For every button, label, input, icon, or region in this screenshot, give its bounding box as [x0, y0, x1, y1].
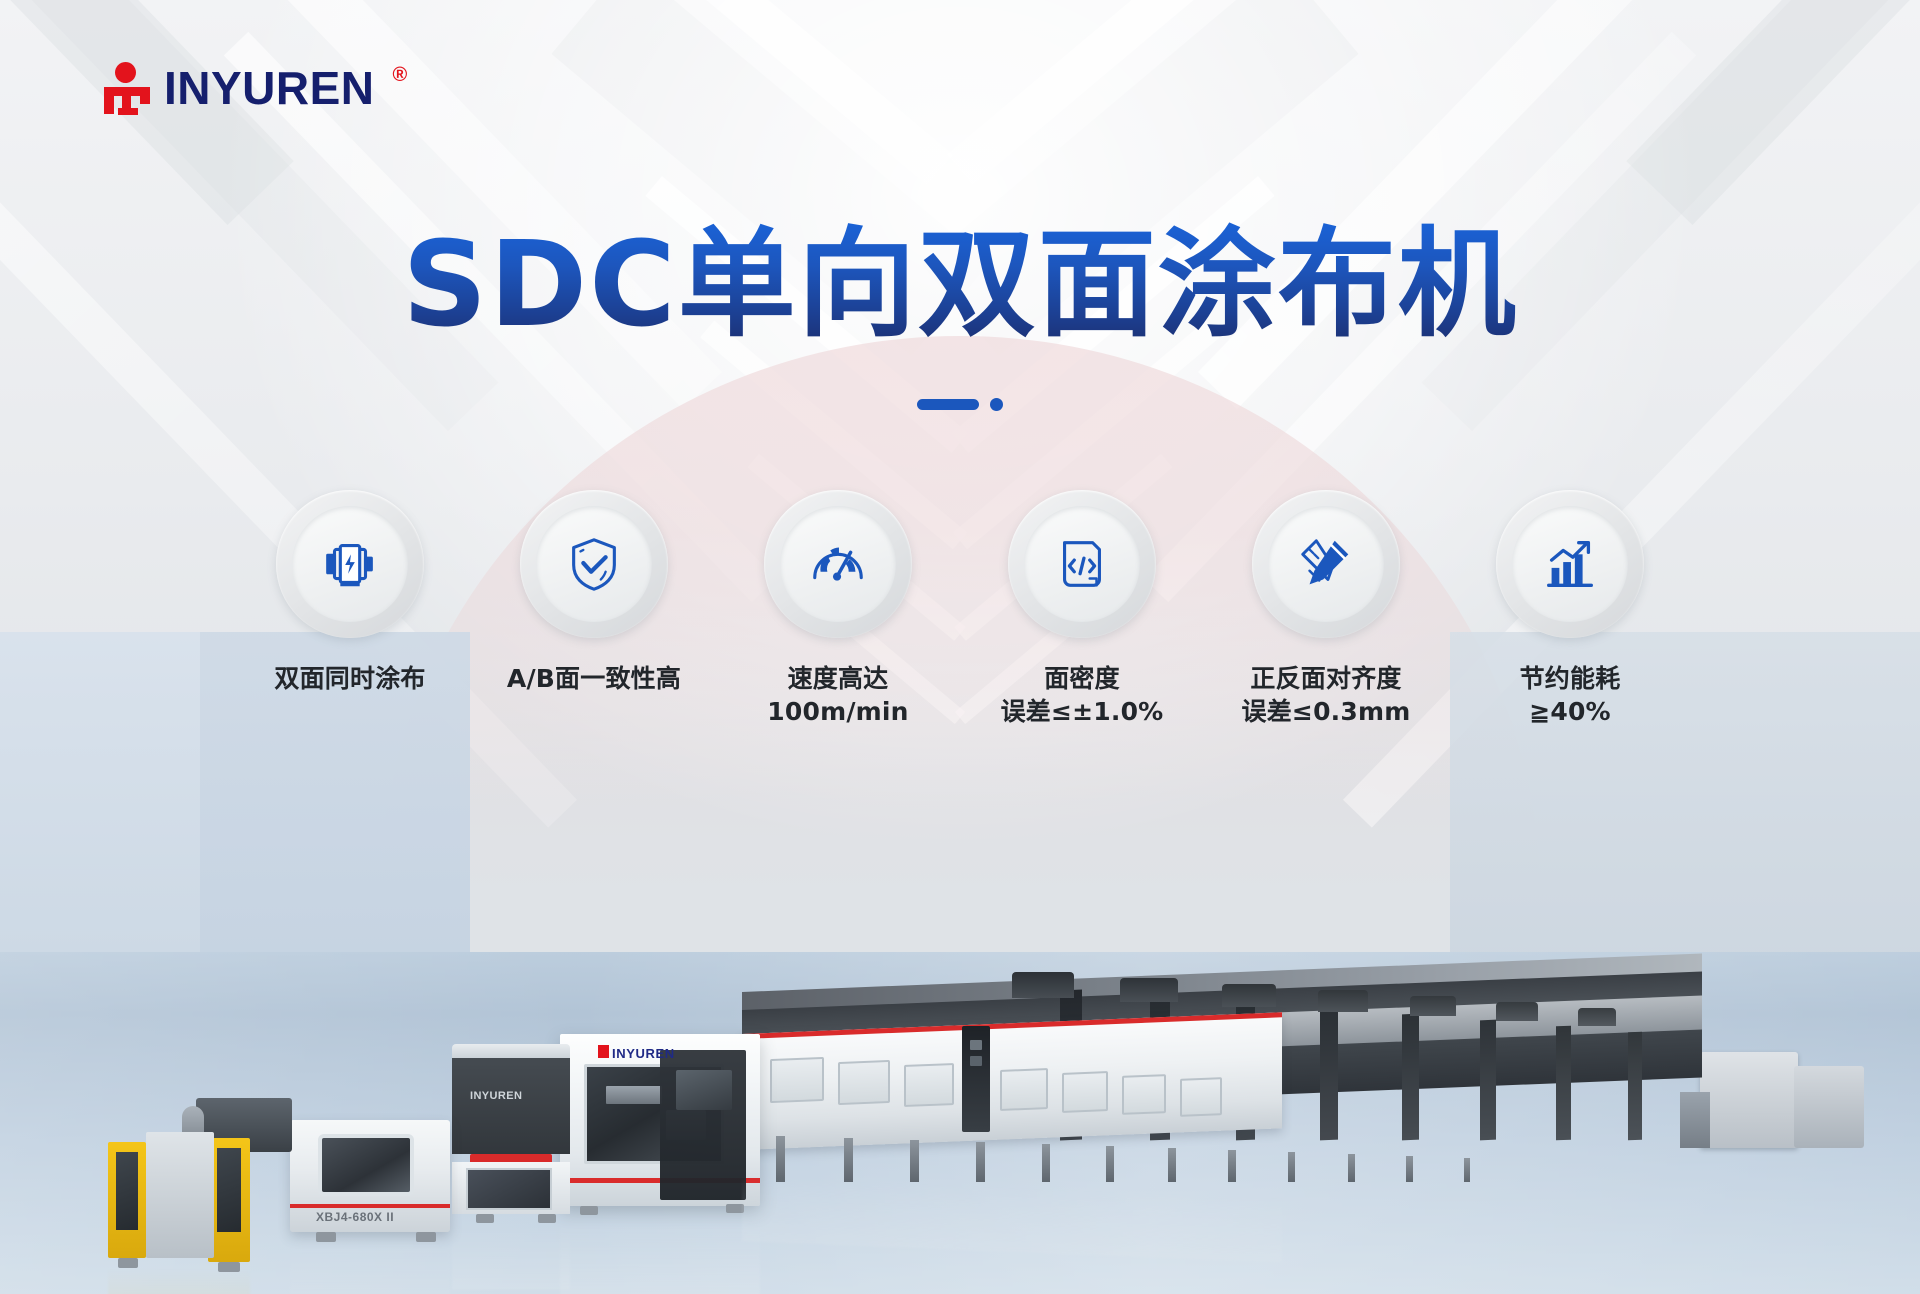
- machine-cabinet-door: [1062, 1071, 1108, 1113]
- feature-label: 速度高达 100m/min: [767, 662, 908, 728]
- machine-console-screen: [676, 1070, 732, 1110]
- machine-gantry-hump: [1120, 978, 1178, 1002]
- machine-foot: [416, 1232, 436, 1242]
- feature-icon-inner: [1024, 506, 1140, 622]
- machine-gantry-hump: [1318, 990, 1368, 1012]
- registered-trademark-icon: ®: [393, 64, 408, 87]
- feature-icon-circle: [764, 490, 912, 638]
- feature-icon-inner: [292, 506, 408, 622]
- feature-icon-inner: [1268, 506, 1384, 622]
- machine-cabinet-door: [1180, 1077, 1222, 1117]
- machine-support-leg: [1042, 1144, 1050, 1182]
- machine-reflection: [290, 1244, 450, 1294]
- machine-reflection: [108, 1268, 250, 1294]
- feature-item: 正反面对齐度 误差≤0.3mm: [1228, 490, 1424, 728]
- machine-unwinder-window: [318, 1134, 414, 1196]
- machine-gantry-hump: [1496, 1002, 1538, 1021]
- machine-secondary-unit-roof: [452, 1044, 570, 1058]
- machine-frame-post: [1480, 1020, 1496, 1141]
- machine-reflection: [742, 1175, 1282, 1263]
- machine-cabinet-door: [838, 1060, 890, 1105]
- machine-gantry-hump: [1410, 996, 1456, 1016]
- machine-scene: INYUREN INYUREN XBJ4-680X II: [0, 734, 1920, 1294]
- machine-support-leg: [844, 1138, 853, 1182]
- feature-icon-inner: [780, 506, 896, 622]
- machine-unit-brand-label: INYUREN: [470, 1090, 522, 1102]
- feature-list: 双面同时涂布 A/B面一致性高: [0, 490, 1920, 728]
- machine-control-tower-light: [970, 1056, 982, 1066]
- machine-support-leg: [1406, 1156, 1413, 1182]
- machine-main-unit-inner-part: [606, 1086, 662, 1104]
- shield-check-icon: [563, 533, 625, 595]
- pen-ruler-icon: [1295, 533, 1357, 595]
- machine-tail-roller: [1680, 1092, 1710, 1148]
- machine-reflection: [560, 1218, 760, 1294]
- machine-support-leg: [1106, 1146, 1114, 1182]
- machine-support-leg: [1168, 1148, 1176, 1182]
- machine-gantry-hump: [1012, 972, 1074, 998]
- machine-gantry-hump: [1222, 984, 1276, 1007]
- divider-dot: [990, 398, 1003, 411]
- brand-logo: INYUREN ®: [104, 62, 407, 114]
- inyuren-figure-mark-icon: [104, 62, 150, 114]
- feature-item: 节约能耗 ≧40%: [1472, 490, 1668, 728]
- feature-icon-inner: [1512, 506, 1628, 622]
- feature-icon-inner: [536, 506, 652, 622]
- machine-foot: [538, 1214, 556, 1223]
- machine-foot: [118, 1258, 138, 1268]
- feature-icon-circle: [1252, 490, 1400, 638]
- machine-support-leg: [1288, 1152, 1295, 1182]
- machine-support-leg: [1228, 1150, 1236, 1182]
- feature-label: 节约能耗 ≧40%: [1520, 662, 1621, 728]
- machine-secondary-unit-red-accent: [470, 1154, 552, 1162]
- growth-chart-icon: [1539, 533, 1601, 595]
- feature-label: 正反面对齐度 误差≤0.3mm: [1242, 662, 1411, 728]
- machine-tail-module: [1700, 1052, 1798, 1148]
- machine-secondary-unit-window: [466, 1168, 552, 1210]
- machine-foot: [580, 1206, 598, 1215]
- title-divider: [0, 398, 1920, 411]
- hero-title-wrap: SDC单向双面涂布机: [0, 222, 1920, 347]
- divider-dash: [917, 399, 979, 410]
- machine-frame-post: [1320, 1008, 1338, 1141]
- machine-unit-brand-label: INYUREN: [612, 1046, 675, 1061]
- machine-frame-post: [1402, 1014, 1419, 1141]
- machine-safety-guard-window: [116, 1152, 138, 1230]
- feature-label: 双面同时涂布: [274, 662, 425, 695]
- machine-frame-post: [1628, 1032, 1642, 1141]
- machine-unwinder-red-line: [290, 1204, 450, 1208]
- feature-icon-circle: [1008, 490, 1156, 638]
- machine-support-leg: [776, 1136, 785, 1182]
- machine-support-leg: [910, 1140, 919, 1182]
- feature-icon-circle: [520, 490, 668, 638]
- page-title: SDC单向双面涂布机: [402, 222, 1518, 347]
- machine-foot: [476, 1214, 494, 1223]
- machine-control-tower-light: [970, 1040, 982, 1050]
- brand-logo-text: INYUREN: [164, 65, 375, 111]
- machine-reflection: [452, 1226, 570, 1290]
- machine-safety-guard-window: [217, 1148, 241, 1232]
- feature-label: 面密度 误差≤±1.0%: [1001, 662, 1164, 728]
- machine-secondary-unit-dark-panel: [452, 1058, 570, 1154]
- feature-item: A/B面一致性高: [496, 490, 692, 728]
- machine-frame-post: [1556, 1026, 1571, 1141]
- speed-gauge-icon: [807, 533, 869, 595]
- feature-item: 面密度 误差≤±1.0%: [984, 490, 1180, 728]
- feature-icon-circle: [276, 490, 424, 638]
- machine-gantry-hump: [1578, 1008, 1616, 1026]
- machine-cabinet-door: [904, 1063, 954, 1107]
- machine-support-leg: [1348, 1154, 1355, 1182]
- machine-cabinet-door: [1000, 1068, 1048, 1111]
- feature-item: 速度高达 100m/min: [740, 490, 936, 728]
- code-document-icon: [1051, 533, 1113, 595]
- machine-cabinet-door: [1122, 1074, 1166, 1115]
- machine-model-label: XBJ4-680X II: [316, 1210, 394, 1224]
- machine-cabinet-door: [770, 1057, 824, 1103]
- machine-support-leg: [976, 1142, 985, 1182]
- machine-foot: [316, 1232, 336, 1242]
- machine-unwinder-base: [146, 1132, 214, 1258]
- machine-brand-mark-icon: [598, 1045, 609, 1058]
- machine-tail-module: [1794, 1066, 1864, 1148]
- machine-support-leg: [1464, 1158, 1470, 1182]
- coating-roller-power-icon: [319, 533, 381, 595]
- feature-icon-circle: [1496, 490, 1644, 638]
- feature-label: A/B面一致性高: [507, 662, 681, 695]
- feature-item: 双面同时涂布: [252, 490, 448, 728]
